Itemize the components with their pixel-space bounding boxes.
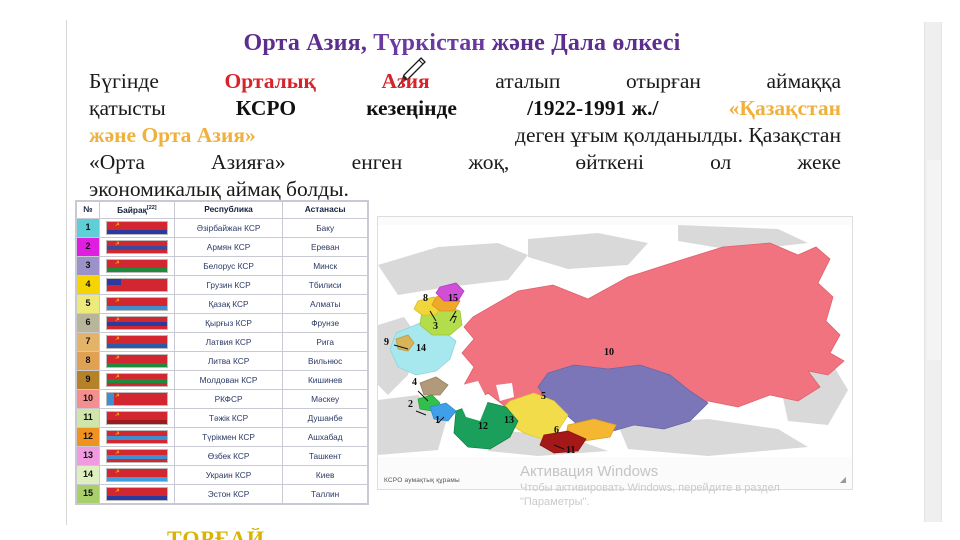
cell-republic: Қырғыз КСР <box>174 314 283 333</box>
paragraph-line-5: экономикалық аймақ болды. <box>89 176 841 203</box>
paragraph-line-3: және Орта Азия» деген ұғым қолданылды. Қ… <box>89 122 841 149</box>
cell-number: 11 <box>77 409 100 428</box>
cell-flag: ☭ <box>99 238 174 257</box>
cell-number: 9 <box>77 371 100 390</box>
flag-icon: ☭ <box>106 411 168 425</box>
cell-number: 13 <box>77 447 100 466</box>
map-label-3: 3 <box>433 321 438 332</box>
flag-stripe <box>107 379 167 383</box>
cell-capital: Минск <box>283 257 368 276</box>
word-bold: КСРО <box>236 95 296 122</box>
flag-stripe <box>107 230 167 234</box>
cell-republic: Украин КСР <box>174 466 283 485</box>
map-label-7: 7 <box>452 315 457 326</box>
flag-icon: ☭ <box>106 316 168 330</box>
cell-number: 10 <box>77 390 100 409</box>
word: ол <box>710 149 731 176</box>
column-header-capital: Астанасы <box>283 202 368 219</box>
cell-capital: Кишинев <box>283 371 368 390</box>
cell-republic: Тәжік КСР <box>174 409 283 428</box>
table-row[interactable]: 4☭Грузин КСРТбилиси <box>77 276 368 295</box>
table-row[interactable]: 6☭Қырғыз КСРФрунзе <box>77 314 368 333</box>
flag-icon: ☭ <box>106 259 168 273</box>
flag-icon: ☭ <box>106 335 168 349</box>
map-label-4: 4 <box>412 377 417 388</box>
cell-republic: Өзбек КСР <box>174 447 283 466</box>
flag-stripe <box>107 496 167 500</box>
map-surface[interactable]: 1 2 3 4 5 6 7 8 9 10 11 12 13 14 15 <box>378 225 852 457</box>
flag-stripe <box>107 436 167 440</box>
column-header-republic: Республика <box>174 202 283 219</box>
cell-flag: ☭ <box>99 390 174 409</box>
table-row[interactable]: 10☭РКФСРМәскеу <box>77 390 368 409</box>
body-paragraph: Бүгінде Орталық Азия аталып отырған айма… <box>89 68 841 203</box>
flag-stripe <box>107 322 167 326</box>
map-panel: 1 2 3 4 5 6 7 8 9 10 11 12 13 14 15 КСРО… <box>377 216 853 490</box>
cell-capital: Алматы <box>283 295 368 314</box>
page-title: Орта Азия, Түркістан және Дала өлкесі <box>67 30 857 57</box>
flag-icon: ☭ <box>106 221 168 235</box>
table-row[interactable]: 9☭Молдован КСРКишинев <box>77 371 368 390</box>
cell-flag: ☭ <box>99 257 174 276</box>
word: аталып <box>495 68 560 95</box>
flag-stripe <box>107 268 167 272</box>
flag-icon: ☭ <box>106 468 168 482</box>
word-date-range: /1922-1991 ж./ <box>527 95 658 122</box>
cell-republic: Қазақ КСР <box>174 295 283 314</box>
cell-number: 3 <box>77 257 100 276</box>
word: өйткені <box>575 149 644 176</box>
flag-icon: ☭ <box>106 430 168 444</box>
word: аймаққа <box>767 68 841 95</box>
map-label-12: 12 <box>478 421 488 432</box>
word: Бүгінде <box>89 68 159 95</box>
flag-stripe <box>107 420 167 424</box>
word: «Орта <box>89 149 145 176</box>
map-label-5: 5 <box>541 391 546 402</box>
word-quote-close: және Орта Азия» <box>89 122 256 149</box>
cell-number: 4 <box>77 276 100 295</box>
flag-stripe <box>107 393 114 405</box>
title-part-1: Орта Азия, <box>243 30 373 56</box>
cell-republic: Латвия КСР <box>174 333 283 352</box>
flag-icon: ☭ <box>106 240 168 254</box>
table-row[interactable]: 11☭Тәжік КСРДушанбе <box>77 409 368 428</box>
bottom-text-artifact: ТОРҒАЙ <box>167 528 307 540</box>
map-label-2: 2 <box>408 399 413 410</box>
scrollbar-thumb[interactable] <box>927 160 941 360</box>
word: жоқ, <box>468 149 509 176</box>
cell-capital: Таллин <box>283 485 368 504</box>
cell-flag: ☭ <box>99 276 174 295</box>
cell-flag: ☭ <box>99 466 174 485</box>
republics-table: № Байрақ[22] Республика Астанасы 1☭Әзірб… <box>76 201 368 504</box>
cell-flag: ☭ <box>99 428 174 447</box>
cell-number: 8 <box>77 352 100 371</box>
cell-capital: Рига <box>283 333 368 352</box>
cell-flag: ☭ <box>99 409 174 428</box>
title-part-3: және Дала өлкесі <box>485 30 680 56</box>
expand-icon[interactable]: ◢ <box>840 475 846 484</box>
flag-icon: ☭ <box>106 297 168 311</box>
cell-capital: Мәскеу <box>283 390 368 409</box>
map-label-9: 9 <box>384 337 389 348</box>
table-row[interactable]: 13☭Өзбек КСРТашкент <box>77 447 368 466</box>
cell-number: 2 <box>77 238 100 257</box>
cell-republic: Грузин КСР <box>174 276 283 295</box>
cell-capital: Ташкент <box>283 447 368 466</box>
cell-capital: Фрунзе <box>283 314 368 333</box>
table-row[interactable]: 8☭Литва КСРВильнюс <box>77 352 368 371</box>
table-row[interactable]: 15☭Эстон КСРТаллин <box>77 485 368 504</box>
word: Азияға» <box>211 149 286 176</box>
table-row[interactable]: 5☭Қазақ КСРАлматы <box>77 295 368 314</box>
cell-republic: РКФСР <box>174 390 283 409</box>
map-label-14: 14 <box>416 343 426 354</box>
cell-number: 12 <box>77 428 100 447</box>
cell-flag: ☭ <box>99 314 174 333</box>
flag-stripe <box>107 306 167 310</box>
column-header-number: № <box>77 202 100 219</box>
flag-icon: ☭ <box>106 449 168 463</box>
table-row[interactable]: 12☭Түрікмен КСРАшхабад <box>77 428 368 447</box>
left-margin <box>0 0 64 540</box>
cell-republic: Эстон КСР <box>174 485 283 504</box>
flag-stripe <box>107 279 121 285</box>
cell-republic: Литва КСР <box>174 352 283 371</box>
flag-stripe <box>107 246 167 250</box>
flag-icon: ☭ <box>106 278 168 292</box>
cell-flag: ☭ <box>99 295 174 314</box>
paragraph-line-2: қатысты КСРО кезеңінде /1922-1991 ж./ «Қ… <box>89 95 841 122</box>
column-header-flag-label: Байрақ <box>117 205 147 215</box>
footnote-ref: [22] <box>147 205 157 211</box>
title-part-turkistan: Түркістан <box>373 30 485 56</box>
flag-stripe <box>107 455 167 459</box>
cell-number: 15 <box>77 485 100 504</box>
map-label-13: 13 <box>504 415 514 426</box>
table-row[interactable]: 1☭Әзірбайжан КСРБаку <box>77 219 368 238</box>
word-bold: кезеңінде <box>366 95 457 122</box>
word: қатысты <box>89 95 166 122</box>
cell-number: 1 <box>77 219 100 238</box>
flag-stripe <box>107 363 167 367</box>
cell-republic: Әзірбайжан КСР <box>174 219 283 238</box>
column-header-flag: Байрақ[22] <box>99 202 174 219</box>
word-highlight: Орталық <box>224 68 315 95</box>
table-row[interactable]: 2☭Армян КСРЕреван <box>77 238 368 257</box>
paragraph-line-1: Бүгінде Орталық Азия аталып отырған айма… <box>89 68 841 95</box>
word: деген ұғым қолданылды. Қазақстан <box>515 122 841 149</box>
cell-republic: Белорус КСР <box>174 257 283 276</box>
cell-flag: ☭ <box>99 219 174 238</box>
table-row[interactable]: 14☭Украин КСРКиев <box>77 466 368 485</box>
cell-republic: Молдован КСР <box>174 371 283 390</box>
flag-icon: ☭ <box>106 354 168 368</box>
cell-number: 6 <box>77 314 100 333</box>
cell-capital: Ереван <box>283 238 368 257</box>
flag-stripe <box>107 477 167 481</box>
cell-flag: ☭ <box>99 352 174 371</box>
cell-number: 7 <box>77 333 100 352</box>
word: енген <box>352 149 403 176</box>
map-label-15: 15 <box>448 293 458 304</box>
cell-number: 14 <box>77 466 100 485</box>
cell-capital: Ашхабад <box>283 428 368 447</box>
word-highlight: Азия <box>382 68 430 95</box>
ussr-map-svg <box>378 225 852 457</box>
table-row[interactable]: 7☭Латвия КСРРига <box>77 333 368 352</box>
flag-icon: ☭ <box>106 487 168 501</box>
word: жеке <box>797 149 841 176</box>
flag-icon: ☭ <box>106 392 168 406</box>
map-label-1: 1 <box>435 415 440 426</box>
slide-content: Орта Азия, Түркістан және Дала өлкесі Бү… <box>66 20 857 525</box>
republics-table-wrapper: № Байрақ[22] Республика Астанасы 1☭Әзірб… <box>75 200 369 505</box>
table-header-row: № Байрақ[22] Республика Астанасы <box>77 202 368 219</box>
table-body: 1☭Әзірбайжан КСРБаку2☭Армян КСРЕреван3☭Б… <box>77 219 368 504</box>
cell-flag: ☭ <box>99 447 174 466</box>
map-label-10: 10 <box>604 347 614 358</box>
cell-capital: Вильнюс <box>283 352 368 371</box>
slide-canvas: Орта Азия, Түркістан және Дала өлкесі Бү… <box>0 0 960 540</box>
map-label-8: 8 <box>423 293 428 304</box>
cell-capital: Душанбе <box>283 409 368 428</box>
map-label-11: 11 <box>566 445 575 456</box>
cell-flag: ☭ <box>99 333 174 352</box>
cell-capital: Тбилиси <box>283 276 368 295</box>
paragraph-line-4: «Орта Азияға» енген жоқ, өйткені ол жеке <box>89 149 841 176</box>
flag-icon: ☭ <box>106 373 168 387</box>
word: отырған <box>626 68 701 95</box>
word-quote-open: «Қазақстан <box>729 95 841 122</box>
flag-stripe <box>107 344 167 348</box>
cell-capital: Киев <box>283 466 368 485</box>
map-label-6: 6 <box>554 425 559 436</box>
cell-flag: ☭ <box>99 485 174 504</box>
cell-republic: Түрікмен КСР <box>174 428 283 447</box>
cell-republic: Армян КСР <box>174 238 283 257</box>
cell-flag: ☭ <box>99 371 174 390</box>
cell-number: 5 <box>77 295 100 314</box>
map-caption: КСРО аумақтық құрамы <box>384 477 460 484</box>
table-row[interactable]: 3☭Белорус КСРМинск <box>77 257 368 276</box>
cell-capital: Баку <box>283 219 368 238</box>
